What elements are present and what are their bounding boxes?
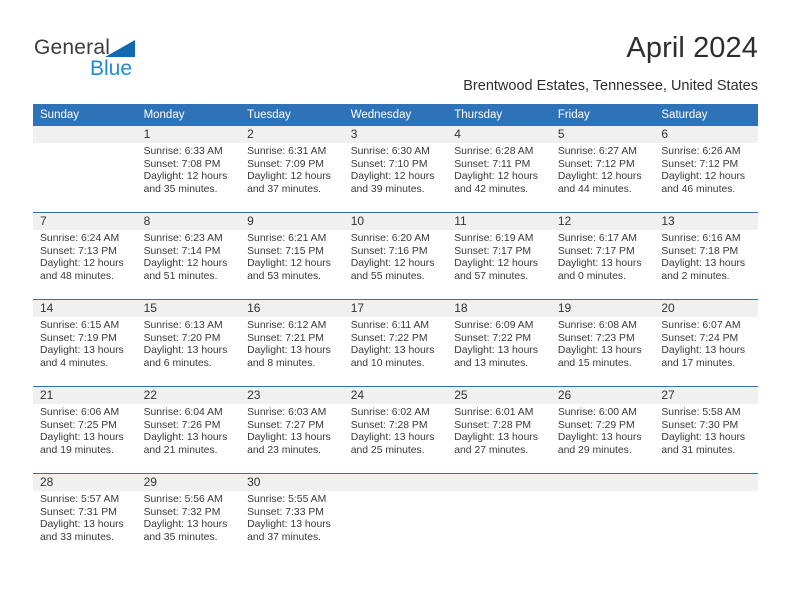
day-details: Sunrise: 5:57 AMSunset: 7:31 PMDaylight:… <box>33 491 137 544</box>
daylight-text: Daylight: 12 hours and 37 minutes. <box>247 171 338 196</box>
sunset-text: Sunset: 7:16 PM <box>351 246 442 259</box>
calendar-cell <box>344 474 448 561</box>
daylight-text: Daylight: 13 hours and 21 minutes. <box>144 432 235 457</box>
daylight-text: Daylight: 13 hours and 4 minutes. <box>40 345 131 370</box>
day-details: Sunrise: 6:17 AMSunset: 7:17 PMDaylight:… <box>551 230 655 283</box>
daylight-text: Daylight: 13 hours and 10 minutes. <box>351 345 442 370</box>
sunrise-text: Sunrise: 6:07 AM <box>661 320 752 333</box>
day-number: 23 <box>240 387 344 404</box>
calendar-cell: 7Sunrise: 6:24 AMSunset: 7:13 PMDaylight… <box>33 213 137 300</box>
calendar-cell: 5Sunrise: 6:27 AMSunset: 7:12 PMDaylight… <box>551 126 655 213</box>
calendar-day[interactable]: 4Sunrise: 6:28 AMSunset: 7:11 PMDaylight… <box>447 126 551 212</box>
sunset-text: Sunset: 7:10 PM <box>351 159 442 172</box>
sunrise-text: Sunrise: 6:11 AM <box>351 320 442 333</box>
calendar-day[interactable]: 17Sunrise: 6:11 AMSunset: 7:22 PMDayligh… <box>344 300 448 386</box>
calendar-cell: 12Sunrise: 6:17 AMSunset: 7:17 PMDayligh… <box>551 213 655 300</box>
calendar-day[interactable]: 13Sunrise: 6:16 AMSunset: 7:18 PMDayligh… <box>654 213 758 299</box>
day-number: 4 <box>447 126 551 143</box>
day-number: 28 <box>33 474 137 491</box>
calendar-cell: 9Sunrise: 6:21 AMSunset: 7:15 PMDaylight… <box>240 213 344 300</box>
daylight-text: Daylight: 12 hours and 53 minutes. <box>247 258 338 283</box>
sunset-text: Sunset: 7:11 PM <box>454 159 545 172</box>
sunrise-text: Sunrise: 6:02 AM <box>351 407 442 420</box>
day-number: 26 <box>551 387 655 404</box>
sunset-text: Sunset: 7:29 PM <box>558 420 649 433</box>
sunrise-text: Sunrise: 6:26 AM <box>661 146 752 159</box>
day-number <box>33 126 137 143</box>
sunrise-text: Sunrise: 6:12 AM <box>247 320 338 333</box>
day-details: Sunrise: 6:30 AMSunset: 7:10 PMDaylight:… <box>344 143 448 196</box>
calendar-cell: 13Sunrise: 6:16 AMSunset: 7:18 PMDayligh… <box>654 213 758 300</box>
calendar-day[interactable]: 3Sunrise: 6:30 AMSunset: 7:10 PMDaylight… <box>344 126 448 212</box>
daylight-text: Daylight: 12 hours and 44 minutes. <box>558 171 649 196</box>
calendar-day[interactable]: 9Sunrise: 6:21 AMSunset: 7:15 PMDaylight… <box>240 213 344 299</box>
sunrise-text: Sunrise: 6:19 AM <box>454 233 545 246</box>
sunrise-text: Sunrise: 6:06 AM <box>40 407 131 420</box>
calendar-cell: 11Sunrise: 6:19 AMSunset: 7:17 PMDayligh… <box>447 213 551 300</box>
day-number: 9 <box>240 213 344 230</box>
day-number: 19 <box>551 300 655 317</box>
calendar-cell: 20Sunrise: 6:07 AMSunset: 7:24 PMDayligh… <box>654 300 758 387</box>
sunset-text: Sunset: 7:18 PM <box>661 246 752 259</box>
day-details: Sunrise: 6:28 AMSunset: 7:11 PMDaylight:… <box>447 143 551 196</box>
day-details: Sunrise: 6:12 AMSunset: 7:21 PMDaylight:… <box>240 317 344 370</box>
day-details: Sunrise: 6:06 AMSunset: 7:25 PMDaylight:… <box>33 404 137 457</box>
day-details: Sunrise: 5:56 AMSunset: 7:32 PMDaylight:… <box>137 491 241 544</box>
day-details: Sunrise: 6:16 AMSunset: 7:18 PMDaylight:… <box>654 230 758 283</box>
calendar-week-row: 28Sunrise: 5:57 AMSunset: 7:31 PMDayligh… <box>33 474 758 561</box>
daylight-text: Daylight: 13 hours and 35 minutes. <box>144 519 235 544</box>
day-number: 5 <box>551 126 655 143</box>
calendar-day[interactable]: 19Sunrise: 6:08 AMSunset: 7:23 PMDayligh… <box>551 300 655 386</box>
day-number <box>344 474 448 491</box>
weekday-header-monday: Monday <box>137 104 241 126</box>
sunset-text: Sunset: 7:28 PM <box>351 420 442 433</box>
weekday-header-saturday: Saturday <box>654 104 758 126</box>
sunrise-text: Sunrise: 5:57 AM <box>40 494 131 507</box>
sunrise-text: Sunrise: 6:17 AM <box>558 233 649 246</box>
calendar-week-row: 1Sunrise: 6:33 AMSunset: 7:08 PMDaylight… <box>33 126 758 213</box>
triangle-icon <box>105 40 135 57</box>
calendar-week-row: 14Sunrise: 6:15 AMSunset: 7:19 PMDayligh… <box>33 300 758 387</box>
page-title: April 2024 <box>626 32 758 65</box>
sunrise-text: Sunrise: 6:13 AM <box>144 320 235 333</box>
daylight-text: Daylight: 13 hours and 37 minutes. <box>247 519 338 544</box>
sunrise-text: Sunrise: 6:31 AM <box>247 146 338 159</box>
sunrise-text: Sunrise: 6:04 AM <box>144 407 235 420</box>
day-number: 10 <box>344 213 448 230</box>
calendar-day[interactable]: 5Sunrise: 6:27 AMSunset: 7:12 PMDaylight… <box>551 126 655 212</box>
day-details: Sunrise: 5:55 AMSunset: 7:33 PMDaylight:… <box>240 491 344 544</box>
calendar-cell: 16Sunrise: 6:12 AMSunset: 7:21 PMDayligh… <box>240 300 344 387</box>
sunset-text: Sunset: 7:09 PM <box>247 159 338 172</box>
sunset-text: Sunset: 7:22 PM <box>454 333 545 346</box>
calendar-day-empty <box>551 474 655 560</box>
day-details: Sunrise: 6:27 AMSunset: 7:12 PMDaylight:… <box>551 143 655 196</box>
sunset-text: Sunset: 7:08 PM <box>144 159 235 172</box>
sunset-text: Sunset: 7:26 PM <box>144 420 235 433</box>
day-details: Sunrise: 6:02 AMSunset: 7:28 PMDaylight:… <box>344 404 448 457</box>
day-number: 27 <box>654 387 758 404</box>
day-details: Sunrise: 6:11 AMSunset: 7:22 PMDaylight:… <box>344 317 448 370</box>
calendar-cell: 27Sunrise: 5:58 AMSunset: 7:30 PMDayligh… <box>654 387 758 474</box>
calendar-day-empty <box>447 474 551 560</box>
day-number <box>551 474 655 491</box>
sunrise-text: Sunrise: 5:55 AM <box>247 494 338 507</box>
calendar-day[interactable]: 26Sunrise: 6:00 AMSunset: 7:29 PMDayligh… <box>551 387 655 473</box>
day-details: Sunrise: 6:26 AMSunset: 7:12 PMDaylight:… <box>654 143 758 196</box>
sunrise-text: Sunrise: 6:00 AM <box>558 407 649 420</box>
calendar-day-empty <box>33 126 137 212</box>
calendar-day-empty <box>344 474 448 560</box>
calendar-cell: 1Sunrise: 6:33 AMSunset: 7:08 PMDaylight… <box>137 126 241 213</box>
sunrise-text: Sunrise: 6:16 AM <box>661 233 752 246</box>
calendar-day[interactable]: 15Sunrise: 6:13 AMSunset: 7:20 PMDayligh… <box>137 300 241 386</box>
calendar-cell: 10Sunrise: 6:20 AMSunset: 7:16 PMDayligh… <box>344 213 448 300</box>
sunset-text: Sunset: 7:23 PM <box>558 333 649 346</box>
logo-text-blue: Blue <box>90 57 132 81</box>
day-details: Sunrise: 6:13 AMSunset: 7:20 PMDaylight:… <box>137 317 241 370</box>
calendar-cell: 29Sunrise: 5:56 AMSunset: 7:32 PMDayligh… <box>137 474 241 561</box>
calendar-day[interactable]: 23Sunrise: 6:03 AMSunset: 7:27 PMDayligh… <box>240 387 344 473</box>
sunrise-text: Sunrise: 6:01 AM <box>454 407 545 420</box>
day-number: 16 <box>240 300 344 317</box>
calendar-day[interactable]: 21Sunrise: 6:06 AMSunset: 7:25 PMDayligh… <box>33 387 137 473</box>
daylight-text: Daylight: 12 hours and 46 minutes. <box>661 171 752 196</box>
calendar-cell: 18Sunrise: 6:09 AMSunset: 7:22 PMDayligh… <box>447 300 551 387</box>
calendar-cell: 14Sunrise: 6:15 AMSunset: 7:19 PMDayligh… <box>33 300 137 387</box>
day-details: Sunrise: 6:04 AMSunset: 7:26 PMDaylight:… <box>137 404 241 457</box>
page-header: General Blue April 2024 Brentwood Estate… <box>0 0 792 100</box>
day-number: 12 <box>551 213 655 230</box>
daylight-text: Daylight: 13 hours and 0 minutes. <box>558 258 649 283</box>
calendar-day[interactable]: 8Sunrise: 6:23 AMSunset: 7:14 PMDaylight… <box>137 213 241 299</box>
sunset-text: Sunset: 7:20 PM <box>144 333 235 346</box>
calendar-day[interactable]: 27Sunrise: 5:58 AMSunset: 7:30 PMDayligh… <box>654 387 758 473</box>
sunset-text: Sunset: 7:17 PM <box>558 246 649 259</box>
calendar-day[interactable]: 30Sunrise: 5:55 AMSunset: 7:33 PMDayligh… <box>240 474 344 560</box>
sunset-text: Sunset: 7:32 PM <box>144 507 235 520</box>
calendar-cell: 3Sunrise: 6:30 AMSunset: 7:10 PMDaylight… <box>344 126 448 213</box>
sunset-text: Sunset: 7:15 PM <box>247 246 338 259</box>
day-details: Sunrise: 6:20 AMSunset: 7:16 PMDaylight:… <box>344 230 448 283</box>
daylight-text: Daylight: 12 hours and 39 minutes. <box>351 171 442 196</box>
sunset-text: Sunset: 7:14 PM <box>144 246 235 259</box>
sunrise-text: Sunrise: 6:28 AM <box>454 146 545 159</box>
sunrise-text: Sunrise: 6:27 AM <box>558 146 649 159</box>
sunrise-text: Sunrise: 6:30 AM <box>351 146 442 159</box>
daylight-text: Daylight: 13 hours and 17 minutes. <box>661 345 752 370</box>
daylight-text: Daylight: 13 hours and 6 minutes. <box>144 345 235 370</box>
day-details: Sunrise: 6:23 AMSunset: 7:14 PMDaylight:… <box>137 230 241 283</box>
daylight-text: Daylight: 12 hours and 57 minutes. <box>454 258 545 283</box>
day-number <box>447 474 551 491</box>
day-number: 18 <box>447 300 551 317</box>
daylight-text: Daylight: 13 hours and 25 minutes. <box>351 432 442 457</box>
day-details: Sunrise: 6:01 AMSunset: 7:28 PMDaylight:… <box>447 404 551 457</box>
calendar-cell: 15Sunrise: 6:13 AMSunset: 7:20 PMDayligh… <box>137 300 241 387</box>
day-details: Sunrise: 6:33 AMSunset: 7:08 PMDaylight:… <box>137 143 241 196</box>
sunrise-text: Sunrise: 6:24 AM <box>40 233 131 246</box>
page-subtitle: Brentwood Estates, Tennessee, United Sta… <box>463 78 758 94</box>
sunset-text: Sunset: 7:28 PM <box>454 420 545 433</box>
daylight-text: Daylight: 13 hours and 29 minutes. <box>558 432 649 457</box>
sunrise-text: Sunrise: 6:09 AM <box>454 320 545 333</box>
day-number: 13 <box>654 213 758 230</box>
weekday-header-row: SundayMondayTuesdayWednesdayThursdayFrid… <box>33 104 758 126</box>
day-number: 7 <box>33 213 137 230</box>
daylight-text: Daylight: 13 hours and 33 minutes. <box>40 519 131 544</box>
day-details: Sunrise: 6:24 AMSunset: 7:13 PMDaylight:… <box>33 230 137 283</box>
day-details: Sunrise: 5:58 AMSunset: 7:30 PMDaylight:… <box>654 404 758 457</box>
calendar-cell: 2Sunrise: 6:31 AMSunset: 7:09 PMDaylight… <box>240 126 344 213</box>
calendar-week-row: 7Sunrise: 6:24 AMSunset: 7:13 PMDaylight… <box>33 213 758 300</box>
calendar-cell: 21Sunrise: 6:06 AMSunset: 7:25 PMDayligh… <box>33 387 137 474</box>
calendar-day[interactable]: 16Sunrise: 6:12 AMSunset: 7:21 PMDayligh… <box>240 300 344 386</box>
day-details: Sunrise: 6:09 AMSunset: 7:22 PMDaylight:… <box>447 317 551 370</box>
calendar-cell: 28Sunrise: 5:57 AMSunset: 7:31 PMDayligh… <box>33 474 137 561</box>
calendar-cell: 19Sunrise: 6:08 AMSunset: 7:23 PMDayligh… <box>551 300 655 387</box>
sunrise-text: Sunrise: 5:56 AM <box>144 494 235 507</box>
daylight-text: Daylight: 12 hours and 55 minutes. <box>351 258 442 283</box>
calendar-page: General Blue April 2024 Brentwood Estate… <box>0 0 792 612</box>
sunrise-text: Sunrise: 6:33 AM <box>144 146 235 159</box>
sunset-text: Sunset: 7:30 PM <box>661 420 752 433</box>
calendar-day[interactable]: 20Sunrise: 6:07 AMSunset: 7:24 PMDayligh… <box>654 300 758 386</box>
calendar-day[interactable]: 29Sunrise: 5:56 AMSunset: 7:32 PMDayligh… <box>137 474 241 560</box>
calendar-day[interactable]: 22Sunrise: 6:04 AMSunset: 7:26 PMDayligh… <box>137 387 241 473</box>
calendar-day[interactable]: 28Sunrise: 5:57 AMSunset: 7:31 PMDayligh… <box>33 474 137 560</box>
calendar-day[interactable]: 25Sunrise: 6:01 AMSunset: 7:28 PMDayligh… <box>447 387 551 473</box>
sunset-text: Sunset: 7:33 PM <box>247 507 338 520</box>
sunset-text: Sunset: 7:12 PM <box>558 159 649 172</box>
daylight-text: Daylight: 13 hours and 31 minutes. <box>661 432 752 457</box>
calendar-day[interactable]: 14Sunrise: 6:15 AMSunset: 7:19 PMDayligh… <box>33 300 137 386</box>
day-number <box>654 474 758 491</box>
daylight-text: Daylight: 13 hours and 27 minutes. <box>454 432 545 457</box>
calendar-cell: 4Sunrise: 6:28 AMSunset: 7:11 PMDaylight… <box>447 126 551 213</box>
calendar-day-empty <box>654 474 758 560</box>
sunrise-text: Sunrise: 6:03 AM <box>247 407 338 420</box>
calendar-cell: 17Sunrise: 6:11 AMSunset: 7:22 PMDayligh… <box>344 300 448 387</box>
calendar-cell: 25Sunrise: 6:01 AMSunset: 7:28 PMDayligh… <box>447 387 551 474</box>
daylight-text: Daylight: 12 hours and 42 minutes. <box>454 171 545 196</box>
sunset-text: Sunset: 7:12 PM <box>661 159 752 172</box>
calendar-cell: 22Sunrise: 6:04 AMSunset: 7:26 PMDayligh… <box>137 387 241 474</box>
sunrise-text: Sunrise: 6:23 AM <box>144 233 235 246</box>
calendar-cell: 8Sunrise: 6:23 AMSunset: 7:14 PMDaylight… <box>137 213 241 300</box>
calendar-day[interactable]: 18Sunrise: 6:09 AMSunset: 7:22 PMDayligh… <box>447 300 551 386</box>
calendar-cell <box>447 474 551 561</box>
calendar-day[interactable]: 11Sunrise: 6:19 AMSunset: 7:17 PMDayligh… <box>447 213 551 299</box>
sunset-text: Sunset: 7:19 PM <box>40 333 131 346</box>
sunset-text: Sunset: 7:21 PM <box>247 333 338 346</box>
calendar-cell <box>551 474 655 561</box>
day-details: Sunrise: 6:15 AMSunset: 7:19 PMDaylight:… <box>33 317 137 370</box>
daylight-text: Daylight: 13 hours and 23 minutes. <box>247 432 338 457</box>
weekday-header-sunday: Sunday <box>33 104 137 126</box>
daylight-text: Daylight: 13 hours and 19 minutes. <box>40 432 131 457</box>
calendar-cell <box>654 474 758 561</box>
day-details: Sunrise: 6:03 AMSunset: 7:27 PMDaylight:… <box>240 404 344 457</box>
day-number: 2 <box>240 126 344 143</box>
day-details: Sunrise: 6:07 AMSunset: 7:24 PMDaylight:… <box>654 317 758 370</box>
day-details: Sunrise: 6:08 AMSunset: 7:23 PMDaylight:… <box>551 317 655 370</box>
day-number: 3 <box>344 126 448 143</box>
daylight-text: Daylight: 13 hours and 2 minutes. <box>661 258 752 283</box>
calendar-body: 1Sunrise: 6:33 AMSunset: 7:08 PMDaylight… <box>33 126 758 560</box>
day-number: 30 <box>240 474 344 491</box>
calendar-cell: 24Sunrise: 6:02 AMSunset: 7:28 PMDayligh… <box>344 387 448 474</box>
sunset-text: Sunset: 7:13 PM <box>40 246 131 259</box>
day-number: 24 <box>344 387 448 404</box>
day-details: Sunrise: 6:00 AMSunset: 7:29 PMDaylight:… <box>551 404 655 457</box>
calendar-cell: 30Sunrise: 5:55 AMSunset: 7:33 PMDayligh… <box>240 474 344 561</box>
calendar-day[interactable]: 1Sunrise: 6:33 AMSunset: 7:08 PMDaylight… <box>137 126 241 212</box>
day-number: 20 <box>654 300 758 317</box>
weekday-header-wednesday: Wednesday <box>344 104 448 126</box>
daylight-text: Daylight: 12 hours and 35 minutes. <box>144 171 235 196</box>
calendar-day[interactable]: 2Sunrise: 6:31 AMSunset: 7:09 PMDaylight… <box>240 126 344 212</box>
day-number: 29 <box>137 474 241 491</box>
day-number: 11 <box>447 213 551 230</box>
daylight-text: Daylight: 13 hours and 15 minutes. <box>558 345 649 370</box>
sunset-text: Sunset: 7:22 PM <box>351 333 442 346</box>
daylight-text: Daylight: 13 hours and 13 minutes. <box>454 345 545 370</box>
sunrise-sunset-calendar: SundayMondayTuesdayWednesdayThursdayFrid… <box>33 104 758 560</box>
calendar-day[interactable]: 7Sunrise: 6:24 AMSunset: 7:13 PMDaylight… <box>33 213 137 299</box>
weekday-header-tuesday: Tuesday <box>240 104 344 126</box>
sunset-text: Sunset: 7:27 PM <box>247 420 338 433</box>
day-number: 17 <box>344 300 448 317</box>
general-blue-logo[interactable]: General Blue <box>34 36 214 84</box>
sunrise-text: Sunrise: 5:58 AM <box>661 407 752 420</box>
sunset-text: Sunset: 7:25 PM <box>40 420 131 433</box>
weekday-header-thursday: Thursday <box>447 104 551 126</box>
day-details: Sunrise: 6:31 AMSunset: 7:09 PMDaylight:… <box>240 143 344 196</box>
sunset-text: Sunset: 7:24 PM <box>661 333 752 346</box>
calendar-day[interactable]: 12Sunrise: 6:17 AMSunset: 7:17 PMDayligh… <box>551 213 655 299</box>
calendar-day[interactable]: 6Sunrise: 6:26 AMSunset: 7:12 PMDaylight… <box>654 126 758 212</box>
day-number: 1 <box>137 126 241 143</box>
day-details: Sunrise: 6:19 AMSunset: 7:17 PMDaylight:… <box>447 230 551 283</box>
calendar-cell <box>33 126 137 213</box>
day-number: 22 <box>137 387 241 404</box>
sunrise-text: Sunrise: 6:08 AM <box>558 320 649 333</box>
calendar-day[interactable]: 10Sunrise: 6:20 AMSunset: 7:16 PMDayligh… <box>344 213 448 299</box>
calendar-week-row: 21Sunrise: 6:06 AMSunset: 7:25 PMDayligh… <box>33 387 758 474</box>
weekday-header-friday: Friday <box>551 104 655 126</box>
day-number: 21 <box>33 387 137 404</box>
calendar-cell: 26Sunrise: 6:00 AMSunset: 7:29 PMDayligh… <box>551 387 655 474</box>
day-number: 6 <box>654 126 758 143</box>
daylight-text: Daylight: 12 hours and 51 minutes. <box>144 258 235 283</box>
daylight-text: Daylight: 12 hours and 48 minutes. <box>40 258 131 283</box>
day-number: 25 <box>447 387 551 404</box>
calendar-day[interactable]: 24Sunrise: 6:02 AMSunset: 7:28 PMDayligh… <box>344 387 448 473</box>
sunrise-text: Sunrise: 6:15 AM <box>40 320 131 333</box>
day-number: 14 <box>33 300 137 317</box>
sunset-text: Sunset: 7:17 PM <box>454 246 545 259</box>
day-number: 15 <box>137 300 241 317</box>
sunset-text: Sunset: 7:31 PM <box>40 507 131 520</box>
sunrise-text: Sunrise: 6:20 AM <box>351 233 442 246</box>
daylight-text: Daylight: 13 hours and 8 minutes. <box>247 345 338 370</box>
calendar-cell: 23Sunrise: 6:03 AMSunset: 7:27 PMDayligh… <box>240 387 344 474</box>
calendar-cell: 6Sunrise: 6:26 AMSunset: 7:12 PMDaylight… <box>654 126 758 213</box>
calendar-weekday-header: SundayMondayTuesdayWednesdayThursdayFrid… <box>33 104 758 126</box>
day-number: 8 <box>137 213 241 230</box>
day-details: Sunrise: 6:21 AMSunset: 7:15 PMDaylight:… <box>240 230 344 283</box>
sunrise-text: Sunrise: 6:21 AM <box>247 233 338 246</box>
